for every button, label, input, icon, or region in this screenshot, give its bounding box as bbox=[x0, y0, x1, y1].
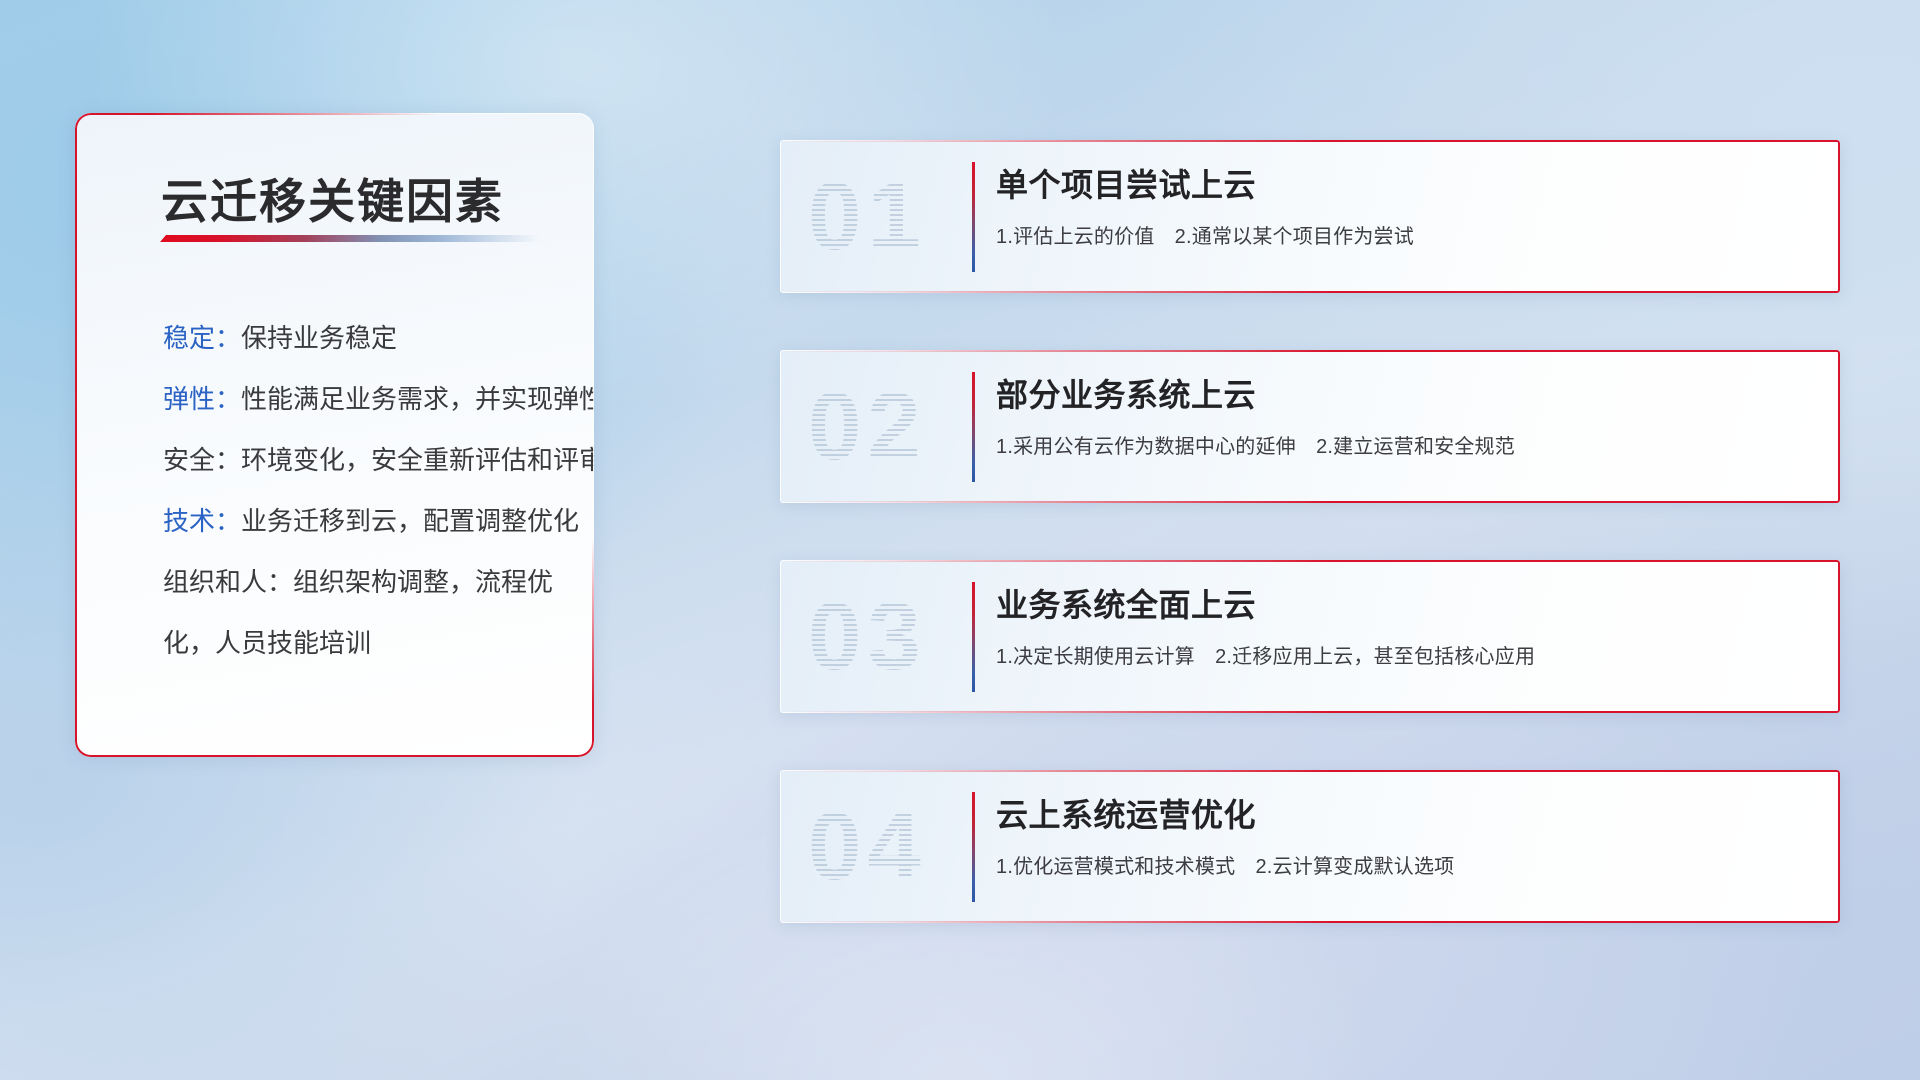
card-divider-bar bbox=[972, 792, 975, 902]
factor-text: 性能满足业务需求，并实现弹性 bbox=[241, 384, 594, 414]
card-step-number: 03 bbox=[808, 589, 927, 685]
factor-text: 环境变化，安全重新评估和评审 bbox=[241, 445, 594, 475]
card-step-number: 02 bbox=[808, 379, 927, 475]
title-underline-accent bbox=[160, 235, 540, 242]
stage-card-03[interactable]: 03 业务系统全面上云 1.决定长期使用云计算 2.迁移应用上云，甚至包括核心应… bbox=[780, 560, 1840, 713]
factor-list: 稳定：保持业务稳定 弹性：性能满足业务需求，并实现弹性 安全：环境变化，安全重新… bbox=[163, 308, 570, 674]
factor-item-security: 安全：环境变化，安全重新评估和评审 bbox=[163, 430, 570, 491]
card-divider-bar bbox=[972, 162, 975, 272]
stage-card-04[interactable]: 04 云上系统运营优化 1.优化运营模式和技术模式 2.云计算变成默认选项 bbox=[780, 770, 1840, 923]
card-description: 1.采用公有云作为数据中心的延伸 2.建立运营和安全规范 bbox=[996, 430, 1810, 459]
stage-card-list: 01 单个项目尝试上云 1.评估上云的价值 2.通常以某个项目作为尝试 02 部… bbox=[780, 140, 1840, 923]
card-title: 云上系统运营优化 bbox=[996, 790, 1810, 836]
card-title: 部分业务系统上云 bbox=[996, 370, 1810, 416]
card-text-block: 云上系统运营优化 1.优化运营模式和技术模式 2.云计算变成默认选项 bbox=[996, 790, 1810, 879]
stage-card-01[interactable]: 01 单个项目尝试上云 1.评估上云的价值 2.通常以某个项目作为尝试 bbox=[780, 140, 1840, 293]
factor-label: 技术： bbox=[163, 506, 241, 536]
page-title: 云迁移关键因素 bbox=[161, 163, 504, 232]
key-factors-panel: 云迁移关键因素 稳定：保持业务稳定 弹性：性能满足业务需求，并实现弹性 安全：环… bbox=[75, 113, 594, 757]
card-text-block: 部分业务系统上云 1.采用公有云作为数据中心的延伸 2.建立运营和安全规范 bbox=[996, 370, 1810, 459]
stage-card-02[interactable]: 02 部分业务系统上云 1.采用公有云作为数据中心的延伸 2.建立运营和安全规范 bbox=[780, 350, 1840, 503]
factor-label: 安全： bbox=[163, 445, 241, 475]
card-description: 1.评估上云的价值 2.通常以某个项目作为尝试 bbox=[996, 220, 1810, 249]
factor-label: 稳定： bbox=[163, 323, 241, 353]
card-text-block: 业务系统全面上云 1.决定长期使用云计算 2.迁移应用上云，甚至包括核心应用 bbox=[996, 580, 1810, 669]
card-title: 单个项目尝试上云 bbox=[996, 160, 1810, 206]
factor-item-elasticity: 弹性：性能满足业务需求，并实现弹性 bbox=[163, 369, 570, 430]
card-divider-bar bbox=[972, 582, 975, 692]
factor-item-technology: 技术：业务迁移到云，配置调整优化 bbox=[163, 491, 570, 552]
factor-label: 弹性： bbox=[163, 384, 241, 414]
factor-item-organization-people: 组织和人：组织架构调整，流程优化，人员技能培训 bbox=[163, 552, 570, 674]
factor-item-stability: 稳定：保持业务稳定 bbox=[163, 308, 570, 369]
factor-label: 组织和人： bbox=[163, 567, 293, 597]
card-divider-bar bbox=[972, 372, 975, 482]
factor-text: 业务迁移到云，配置调整优化 bbox=[241, 506, 579, 536]
card-text-block: 单个项目尝试上云 1.评估上云的价值 2.通常以某个项目作为尝试 bbox=[996, 160, 1810, 249]
card-description: 1.决定长期使用云计算 2.迁移应用上云，甚至包括核心应用 bbox=[996, 640, 1810, 669]
card-description: 1.优化运营模式和技术模式 2.云计算变成默认选项 bbox=[996, 850, 1810, 879]
card-title: 业务系统全面上云 bbox=[996, 580, 1810, 626]
card-step-number: 04 bbox=[808, 799, 927, 895]
factor-text: 保持业务稳定 bbox=[241, 323, 397, 353]
card-step-number: 01 bbox=[808, 169, 927, 265]
